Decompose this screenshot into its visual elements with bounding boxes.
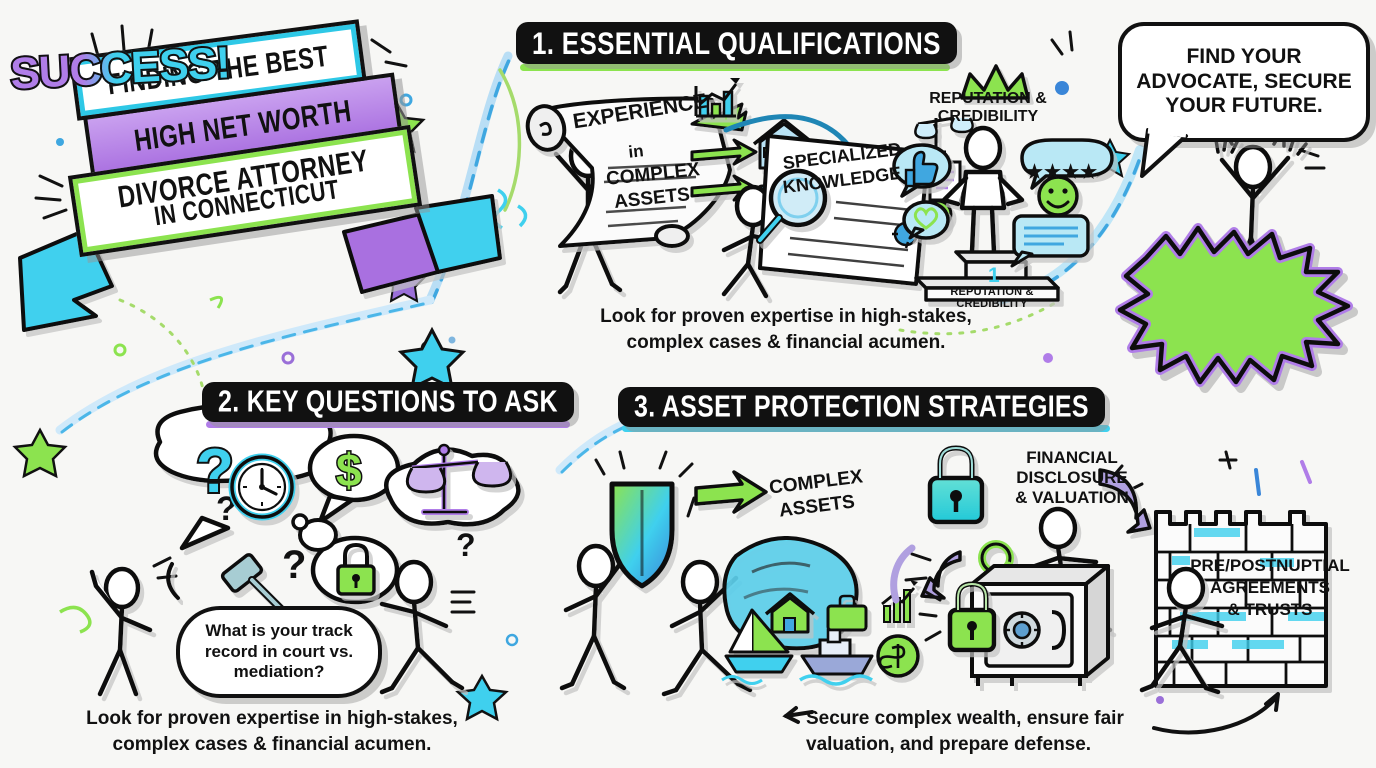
tagline-speech-bubble: FIND YOUR ADVOCATE, SECURE YOUR FUTURE.	[1118, 22, 1370, 142]
section-3-caption: Secure complex wealth, ensure fair valua…	[806, 706, 1164, 757]
tagline-line3: YOUR FUTURE.	[1165, 94, 1323, 119]
question-mark-icon-2: ?	[282, 543, 306, 587]
caption-line-1: Secure complex wealth, ensure fair	[806, 706, 1164, 732]
wall-label-line3: & TRUSTS	[1186, 600, 1354, 619]
question-line3: mediation?	[234, 662, 325, 682]
heart-icon	[904, 202, 948, 238]
section-1-heading: 1. ESSENTIAL QUALIFICATIONS	[516, 22, 957, 64]
tagline-bubble-tail	[1130, 128, 1210, 180]
caption-line-2: complex cases & financial acumen.	[66, 732, 478, 758]
reputation-title-line1: REPUTATION &	[918, 90, 1058, 108]
wall-label-line2: AGREEMENTS	[1186, 578, 1354, 597]
question-line1: What is your track	[205, 621, 352, 641]
tagline-line2: ADVOCATE, SECURE	[1136, 70, 1351, 95]
clock-icon	[232, 457, 292, 517]
section-2-heading: 2. KEY QUESTIONS TO ASK	[202, 382, 574, 422]
section-1-caption: Look for proven expertise in high-stakes…	[586, 304, 986, 355]
question-speech-bubble: What is your track record in court vs. m…	[176, 606, 382, 698]
podium-plaque-label: REPUTATION & CREDIBILITY	[930, 286, 1054, 310]
dollar-icon: $	[336, 444, 362, 496]
dollar-coin-icon	[878, 636, 918, 676]
caption-line-2: complex cases & financial acumen.	[586, 330, 986, 356]
section-3-heading: 3. ASSET PROTECTION STRATEGIES	[618, 387, 1105, 427]
section-2-underline	[206, 421, 570, 428]
financial-disclosure-line3: & VALUATION	[996, 488, 1148, 507]
question-mark-icon-3: ?	[456, 527, 476, 563]
financial-disclosure-line1: FINANCIAL	[996, 448, 1148, 467]
caption-line-1: Look for proven expertise in high-stakes…	[66, 706, 478, 732]
stars-rating: ★★★★	[1026, 162, 1092, 183]
section-1-underline	[520, 64, 950, 71]
question-line2: record in court vs.	[205, 642, 353, 662]
wall-label-line1: PRE/POSTNUPTIAL	[1186, 556, 1354, 575]
section-2-caption: Look for proven expertise in high-stakes…	[66, 706, 478, 757]
caption-line-2: valuation, and prepare defense.	[806, 732, 1164, 758]
reputation-title-line2: CREDIBILITY	[918, 108, 1058, 126]
tagline-line1: FIND YOUR	[1186, 45, 1301, 70]
financial-disclosure-line2: DISCLOSURE	[996, 468, 1148, 487]
caption-line-1: Look for proven expertise in high-stakes…	[586, 304, 986, 330]
podium-rank-number: 1	[988, 264, 1000, 288]
